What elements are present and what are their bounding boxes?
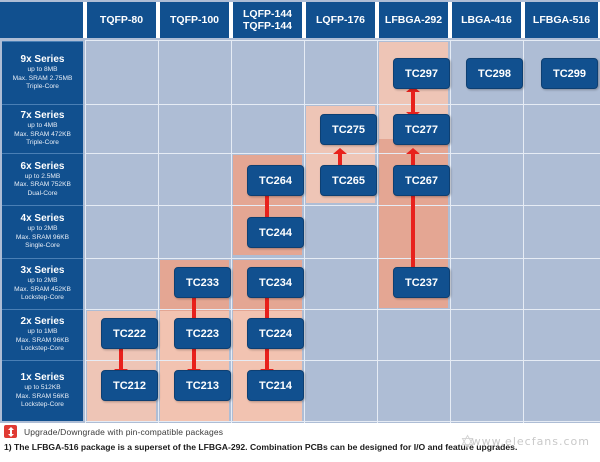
series-name: 9x Series <box>21 54 65 66</box>
series-name: 6x Series <box>21 161 65 173</box>
chip-tc298[interactable]: TC298 <box>466 58 523 89</box>
package-compatibility-matrix: TQFP-80 TQFP-100 LQFP-144 TQFP-144 LQFP-… <box>0 0 600 423</box>
legend-label: Upgrade/Downgrade with pin-compatible pa… <box>24 427 223 437</box>
row-header-2x-series: 2x Series up to 1MB Max. SRAM 96KB Locks… <box>2 309 83 360</box>
series-flash: up to 2.5MB <box>25 173 61 182</box>
row-header-3x-series: 3x Series up to 2MB Max. SRAM 452KB Lock… <box>2 258 83 309</box>
chip-tc223[interactable]: TC223 <box>174 318 231 349</box>
chip-tc244[interactable]: TC244 <box>247 217 304 248</box>
series-cores: Triple-Core <box>26 139 59 148</box>
row-header-7x-series: 7x Series up to 4MB Max. SRAM 472KB Trip… <box>2 104 83 153</box>
column-header-tqfp-80: TQFP-80 <box>85 2 158 38</box>
chip-tc277[interactable]: TC277 <box>393 114 450 145</box>
chip-tc222[interactable]: TC222 <box>101 318 158 349</box>
series-sram: Max. SRAM 56KB <box>16 393 69 402</box>
grid-line-col-3 <box>231 40 232 423</box>
series-sram: Max. SRAM 2.75MB <box>13 75 73 84</box>
grid-line-col-4 <box>304 40 305 423</box>
chip-tc237[interactable]: TC237 <box>393 267 450 298</box>
series-sram: Max. SRAM 452KB <box>14 286 71 295</box>
chip-tc264[interactable]: TC264 <box>247 165 304 196</box>
chip-tc224[interactable]: TC224 <box>247 318 304 349</box>
row-header-4x-series: 4x Series up to 2MB Max. SRAM 96KB Singl… <box>2 205 83 258</box>
series-sram: Max. SRAM 752KB <box>14 181 71 190</box>
grid-line-col-2 <box>158 40 159 423</box>
chip-tc299[interactable]: TC299 <box>541 58 598 89</box>
grid-line-col-1 <box>85 40 86 423</box>
column-header-lbga-416: LBGA-416 <box>450 2 523 38</box>
series-cores: Triple-Core <box>26 83 59 92</box>
series-cores: Lockstep-Core <box>21 345 64 354</box>
series-flash: up to 8MB <box>27 66 57 75</box>
series-name: 1x Series <box>21 372 65 384</box>
series-cores: Lockstep-Core <box>21 294 64 303</box>
chip-tc275[interactable]: TC275 <box>320 114 377 145</box>
column-header-lfbga-516: LFBGA-516 <box>523 2 600 38</box>
series-flash: up to 2MB <box>27 225 57 234</box>
watermark-text: www.elecfans.com <box>472 435 590 448</box>
series-sram: Max. SRAM 96KB <box>16 337 69 346</box>
row-header-6x-series: 6x Series up to 2.5MB Max. SRAM 752KB Du… <box>2 153 83 205</box>
grid-line-col-7 <box>523 40 524 423</box>
series-name: 2x Series <box>21 316 65 328</box>
chip-tc212[interactable]: TC212 <box>101 370 158 401</box>
column-header-lqfp-176: LQFP-176 <box>304 2 377 38</box>
chip-tc297[interactable]: TC297 <box>393 58 450 89</box>
table-header-row: TQFP-80 TQFP-100 LQFP-144 TQFP-144 LQFP-… <box>0 0 600 40</box>
row-header-9x-series: 9x Series up to 8MB Max. SRAM 2.75MB Tri… <box>2 41 83 104</box>
chip-tc265[interactable]: TC265 <box>320 165 377 196</box>
series-name: 4x Series <box>21 213 65 225</box>
legend: Upgrade/Downgrade with pin-compatible pa… <box>4 425 223 438</box>
chip-tc234[interactable]: TC234 <box>247 267 304 298</box>
table-corner-cell <box>0 2 85 38</box>
series-cores: Single-Core <box>25 242 60 251</box>
series-flash: up to 4MB <box>27 122 57 131</box>
series-cores: Lockstep-Core <box>21 401 64 410</box>
series-cores: Dual-Core <box>27 190 57 199</box>
series-name: 7x Series <box>21 110 65 122</box>
chip-tc214[interactable]: TC214 <box>247 370 304 401</box>
chip-tc267[interactable]: TC267 <box>393 165 450 196</box>
row-header-1x-series: 1x Series up to 512KB Max. SRAM 56KB Loc… <box>2 360 83 421</box>
series-sram: Max. SRAM 472KB <box>14 131 71 140</box>
chip-tc213[interactable]: TC213 <box>174 370 231 401</box>
chip-tc233[interactable]: TC233 <box>174 267 231 298</box>
footer: Upgrade/Downgrade with pin-compatible pa… <box>0 423 600 462</box>
grid-line-col-6 <box>450 40 451 423</box>
column-header-lfbga-292: LFBGA-292 <box>377 2 450 38</box>
series-sram: Max. SRAM 96KB <box>16 234 69 243</box>
footnote-text: 1) The LFBGA-516 package is a superset o… <box>4 442 517 452</box>
series-flash: up to 512KB <box>24 384 60 393</box>
series-flash: up to 2MB <box>27 277 57 286</box>
upgrade-downgrade-arrow-icon <box>4 425 17 438</box>
column-header-lqfp-144: LQFP-144 TQFP-144 <box>231 2 304 38</box>
grid-line-col-5 <box>377 40 378 423</box>
series-flash: up to 1MB <box>27 328 57 337</box>
series-name: 3x Series <box>21 265 65 277</box>
column-header-tqfp-100: TQFP-100 <box>158 2 231 38</box>
